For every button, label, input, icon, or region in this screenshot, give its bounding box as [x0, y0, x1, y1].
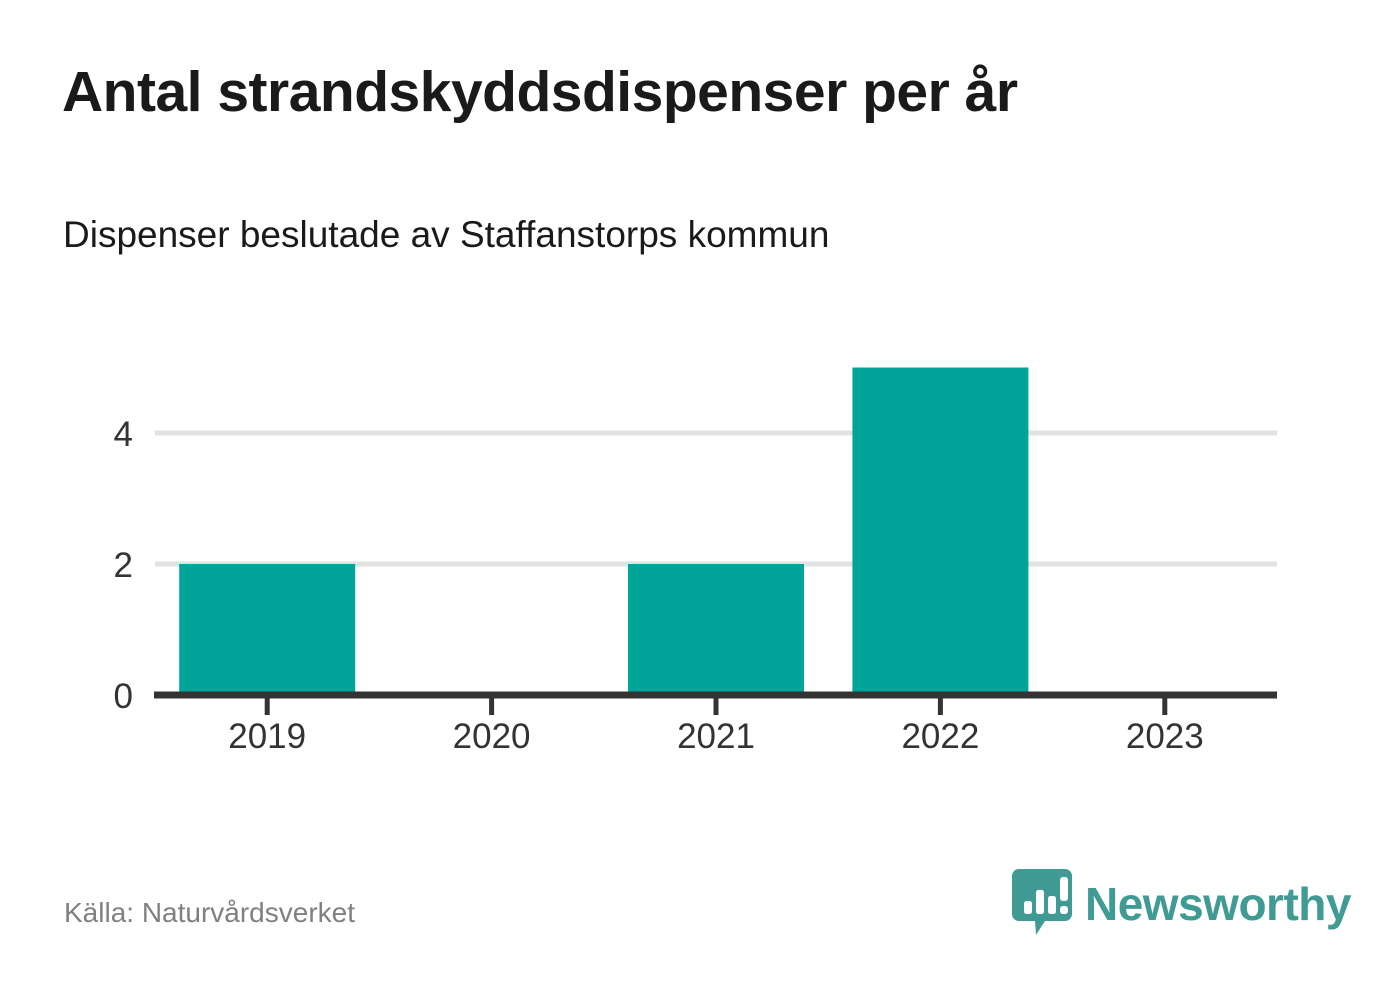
speech-bubble-bar-chart-icon — [1011, 867, 1073, 941]
x-tick-label-2023: 2023 — [1126, 717, 1204, 756]
bar-2021[interactable] — [628, 564, 804, 695]
x-tick-label-2019: 2019 — [228, 717, 306, 756]
bar-2019[interactable] — [179, 564, 355, 695]
logo-wordmark: Newsworthy — [1085, 881, 1351, 927]
chart-canvas: 20192020202120222023024 — [0, 0, 1382, 999]
y-tick-label-2: 2 — [114, 546, 133, 585]
y-tick-label-0: 0 — [114, 677, 133, 716]
x-tick-label-2020: 2020 — [453, 717, 531, 756]
bar-chart: 20192020202120222023024 — [0, 0, 1382, 999]
newsworthy-logo[interactable]: Newsworthy — [1011, 866, 1351, 942]
chart-page: Antal strandskyddsdispenser per år Dispe… — [0, 0, 1382, 999]
y-tick-label-4: 4 — [114, 415, 133, 454]
x-tick-label-2021: 2021 — [677, 717, 755, 756]
bar-2022[interactable] — [852, 368, 1028, 696]
source-note: Källa: Naturvårdsverket — [64, 897, 355, 929]
x-tick-label-2022: 2022 — [901, 717, 979, 756]
